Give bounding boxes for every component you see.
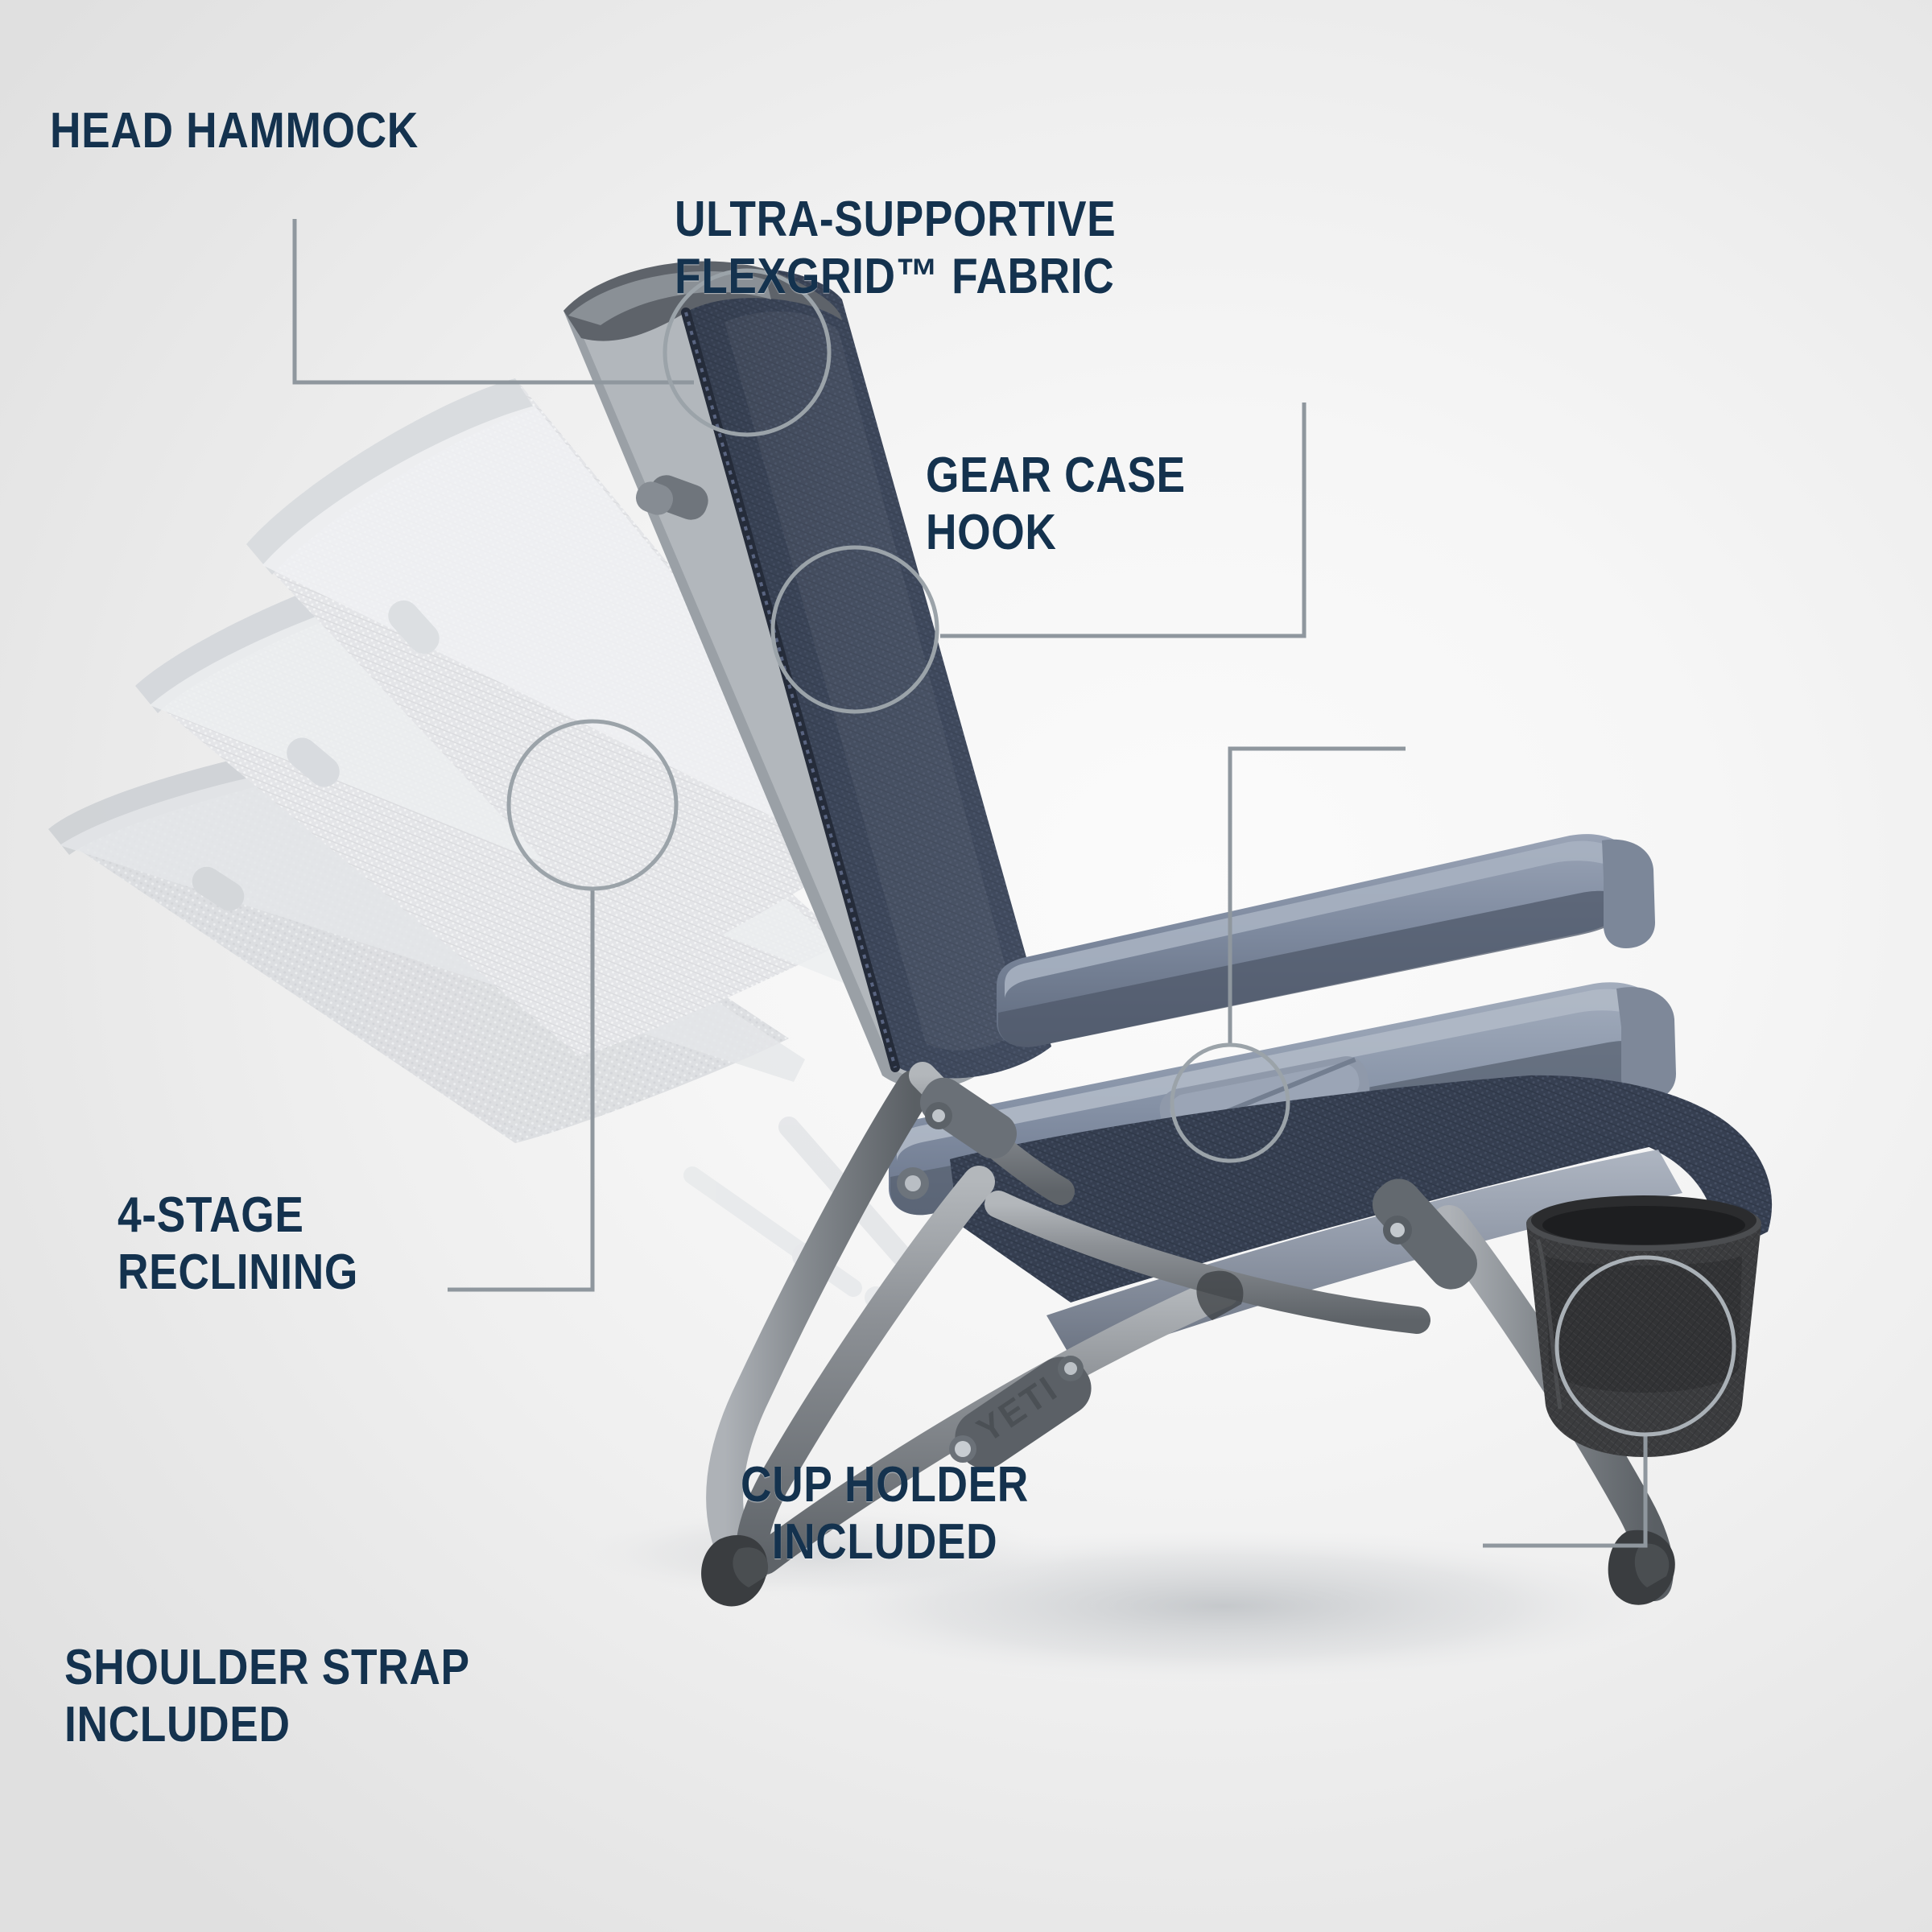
callout-label-head-hammock: HEAD HAMMOCK [50, 103, 419, 160]
callout-line-2: INCLUDED [772, 1514, 998, 1570]
callout-label-four-stage-reclining: 4-STAGERECLINING [118, 1187, 358, 1301]
cup-holder [1526, 1195, 1761, 1457]
callout-line-2: RECLINING [118, 1245, 358, 1300]
callout-line-1: CUP HOLDER [741, 1457, 1029, 1513]
callout-line-1: 4-STAGE [118, 1187, 304, 1243]
callout-line-2: INCLUDED [64, 1697, 291, 1752]
callout-label-shoulder-strap-included: SHOULDER STRAPINCLUDED [64, 1640, 470, 1753]
callout-line-1: SHOULDER STRAP [64, 1640, 470, 1695]
callout-label-flexgrid-fabric: ULTRA-SUPPORTIVEFLEXGRID™ FABRIC [675, 192, 1116, 305]
infographic-canvas: YETI [0, 0, 1932, 1932]
callout-line-1: ULTRA-SUPPORTIVE [675, 192, 1116, 247]
callout-label-gear-case-hook: GEAR CASEHOOK [926, 448, 1186, 561]
callout-line-1: GEAR CASE [926, 448, 1186, 503]
callout-line-2: HOOK [926, 505, 1057, 560]
callout-label-cup-holder-included: CUP HOLDERINCLUDED [741, 1457, 1029, 1571]
callout-line-2: FLEXGRID™ FABRIC [675, 249, 1114, 304]
